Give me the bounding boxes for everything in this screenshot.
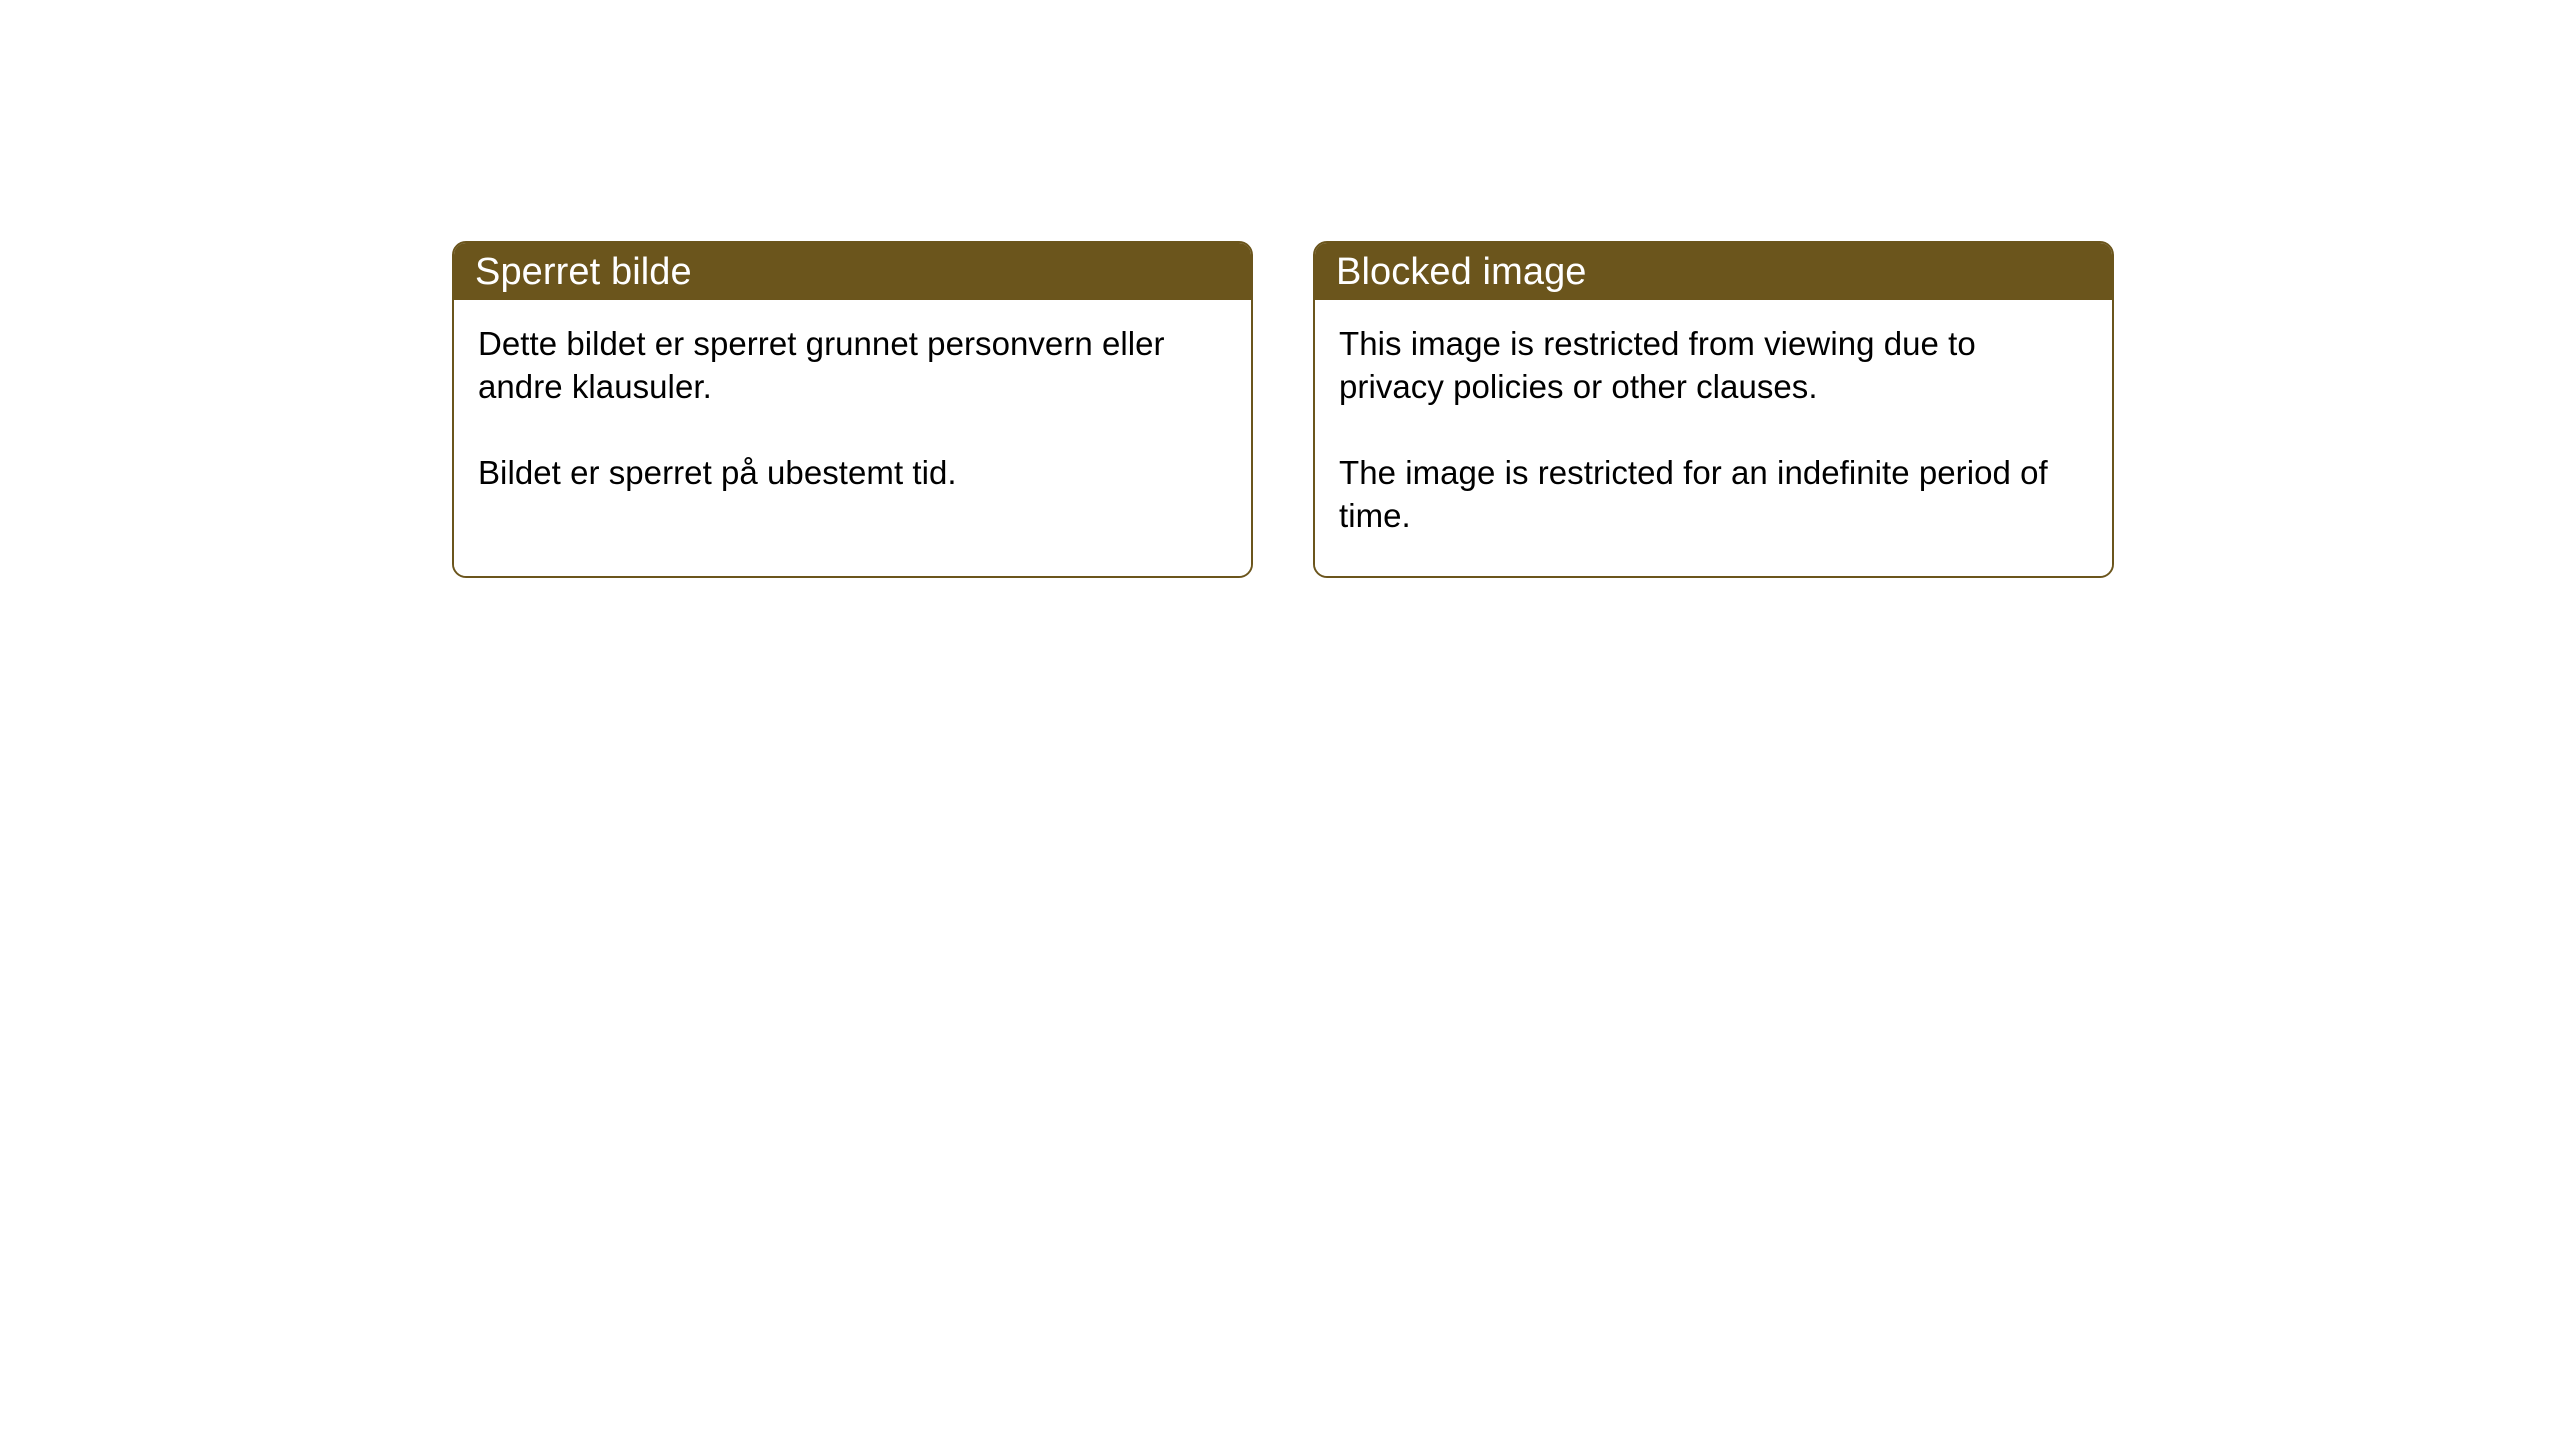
card-header-english: Blocked image bbox=[1315, 243, 2112, 300]
card-paragraph-reason-norwegian: Dette bildet er sperret grunnet personve… bbox=[478, 322, 1227, 408]
card-body-english: This image is restricted from viewing du… bbox=[1315, 300, 2112, 576]
blocked-image-card-norwegian: Sperret bilde Dette bildet er sperret gr… bbox=[452, 241, 1253, 578]
card-paragraph-duration-english: The image is restricted for an indefinit… bbox=[1339, 451, 2088, 537]
blocked-image-card-english: Blocked image This image is restricted f… bbox=[1313, 241, 2114, 578]
card-paragraph-reason-english: This image is restricted from viewing du… bbox=[1339, 322, 2088, 408]
blocked-image-notice-group: Sperret bilde Dette bildet er sperret gr… bbox=[452, 241, 2114, 578]
card-title-english: Blocked image bbox=[1336, 251, 1587, 293]
card-paragraph-duration-norwegian: Bildet er sperret på ubestemt tid. bbox=[478, 451, 1227, 494]
card-body-norwegian: Dette bildet er sperret grunnet personve… bbox=[454, 300, 1251, 576]
card-title-norwegian: Sperret bilde bbox=[475, 251, 692, 293]
card-header-norwegian: Sperret bilde bbox=[454, 243, 1251, 300]
